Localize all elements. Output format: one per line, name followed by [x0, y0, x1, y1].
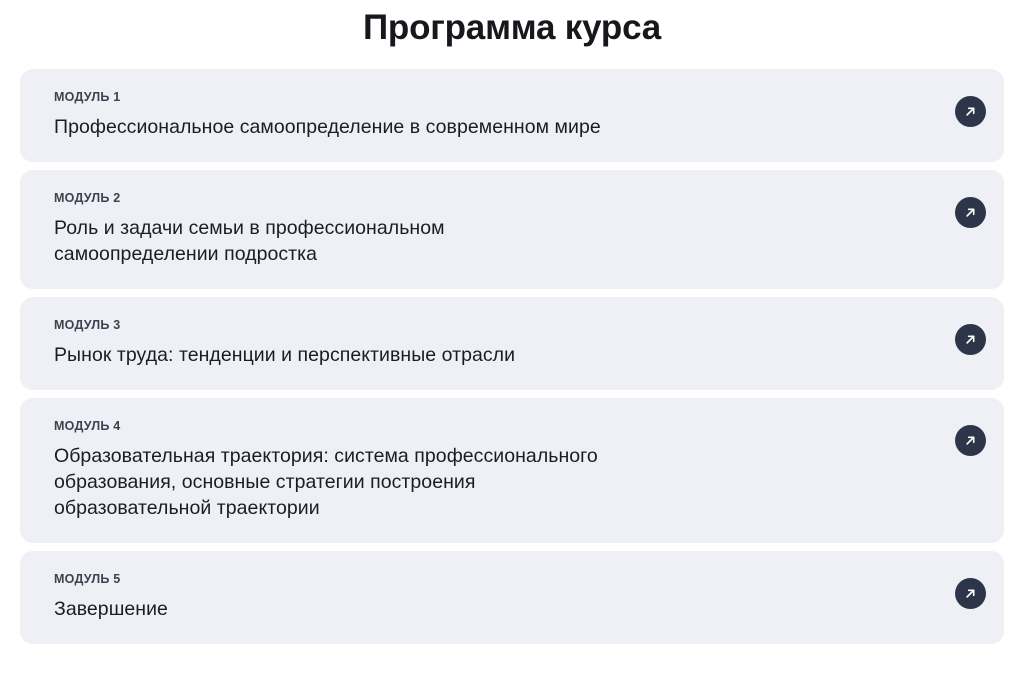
module-kicker: Модуль 3 [54, 318, 934, 333]
arrow-up-right-icon [963, 586, 978, 601]
module-card-3[interactable]: Модуль 3 Рынок труда: тенденции и перспе… [20, 297, 1004, 390]
module-title: Роль и задачи семьи в профессиональном с… [54, 215, 754, 267]
module-kicker: Модуль 4 [54, 419, 934, 434]
module-card-1[interactable]: Модуль 1 Профессиональное самоопределени… [20, 69, 1004, 162]
module-title: Рынок труда: тенденции и перспективные о… [54, 342, 754, 368]
module-card-2[interactable]: Модуль 2 Роль и задачи семьи в профессио… [20, 170, 1004, 289]
module-open-button-5[interactable] [955, 578, 986, 609]
arrow-up-right-icon [963, 104, 978, 119]
module-title: Профессиональное самоопределение в совре… [54, 114, 754, 140]
module-kicker: Модуль 1 [54, 90, 934, 105]
module-card-5[interactable]: Модуль 5 Завершение [20, 551, 1004, 644]
module-card-4[interactable]: Модуль 4 Образовательная траектория: сис… [20, 398, 1004, 543]
page-title: Программа курса [0, 0, 1024, 50]
module-open-button-3[interactable] [955, 324, 986, 355]
module-title: Образовательная траектория: система проф… [54, 443, 754, 521]
module-open-button-1[interactable] [955, 96, 986, 127]
arrow-up-right-icon [963, 205, 978, 220]
arrow-up-right-icon [963, 332, 978, 347]
course-program-page: Программа курса Модуль 1 Профессионально… [0, 0, 1024, 693]
module-title: Завершение [54, 596, 754, 622]
module-open-button-4[interactable] [955, 425, 986, 456]
module-kicker: Модуль 5 [54, 572, 934, 587]
module-kicker: Модуль 2 [54, 191, 934, 206]
module-list: Модуль 1 Профессиональное самоопределени… [0, 69, 1024, 644]
arrow-up-right-icon [963, 433, 978, 448]
module-open-button-2[interactable] [955, 197, 986, 228]
